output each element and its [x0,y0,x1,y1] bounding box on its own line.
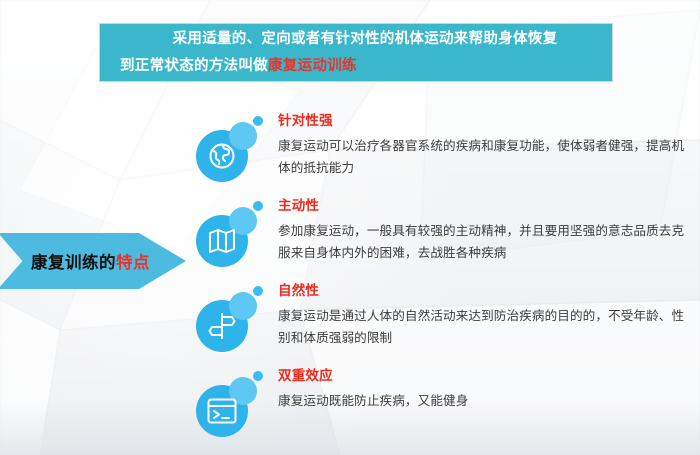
feature-row: 自然性 康复运动是通过人体的自然活动来达到防治疾病的目的的，不受年龄、性别和体质… [196,282,696,367]
globe-icon [196,130,248,182]
feature-row: 双重效应 康复运动既能防止疾病，又能健身 [196,367,696,452]
feature-body: 康复运动可以治疗各器官系统的疾病和康复功能，使体弱者健强，提高机体的抵抗能力 [278,135,693,178]
feature-title: 主动性 [278,197,693,216]
map-icon [196,215,248,267]
feature-row: 主动性 参加康复运动，一般具有较强的主动精神，并且要用坚强的意志品质去克服来自身… [196,197,696,282]
icon-cluster [196,116,268,188]
feature-body: 康复运动既能防止疾病，又能健身 [278,390,693,412]
feature-row: 针对性强 康复运动可以治疗各器官系统的疾病和康复功能，使体弱者健强，提高机体的抵… [196,112,696,197]
signpost-icon [196,300,248,352]
feature-text: 针对性强 康复运动可以治疗各器官系统的疾病和康复功能，使体弱者健强，提高机体的抵… [278,112,693,178]
feature-title: 针对性强 [278,112,693,131]
feature-title: 自然性 [278,282,693,301]
icon-cluster [196,286,268,358]
icon-dot-small [253,116,263,126]
feature-title: 双重效应 [278,367,693,386]
feature-banner-prefix: 康复训练的 [31,253,116,272]
header-line-2: 到正常状态的方法叫做康复运动训练 [114,53,598,80]
feature-banner-label: 康复训练的特点 [31,249,150,273]
feature-text: 自然性 康复运动是通过人体的自然活动来达到防治疾病的目的的，不受年龄、性别和体质… [278,282,693,348]
feature-text: 主动性 参加康复运动，一般具有较强的主动精神，并且要用坚强的意志品质去克服来自身… [278,197,693,263]
header-line-1: 采用适量的、定向或者有针对性的机体运动来帮助身体恢复 [114,26,598,53]
terminal-icon [196,385,248,437]
slide-stage: 采用适量的、定向或者有针对性的机体运动来帮助身体恢复 到正常状态的方法叫做康复运… [0,0,700,455]
feature-body: 参加康复运动，一般具有较强的主动精神，并且要用坚强的意志品质去克服来自身体内外的… [278,220,693,263]
icon-dot-small [253,286,263,296]
feature-banner-chevron: 康复训练的特点 [0,233,186,289]
icon-dot-small [253,201,263,211]
feature-banner-accent: 特点 [116,253,150,272]
header-line-2-highlight: 康复运动训练 [268,58,357,74]
feature-text: 双重效应 康复运动既能防止疾病，又能健身 [278,367,693,412]
header-line-2-prefix: 到正常状态的方法叫做 [120,58,268,74]
header-banner: 采用适量的、定向或者有针对性的机体运动来帮助身体恢复 到正常状态的方法叫做康复运… [99,23,613,82]
icon-cluster [196,201,268,273]
icon-cluster [196,371,268,443]
feature-body: 康复运动是通过人体的自然活动来达到防治疾病的目的的，不受年龄、性别和体质强弱的限… [278,305,693,348]
icon-dot-small [253,371,263,381]
